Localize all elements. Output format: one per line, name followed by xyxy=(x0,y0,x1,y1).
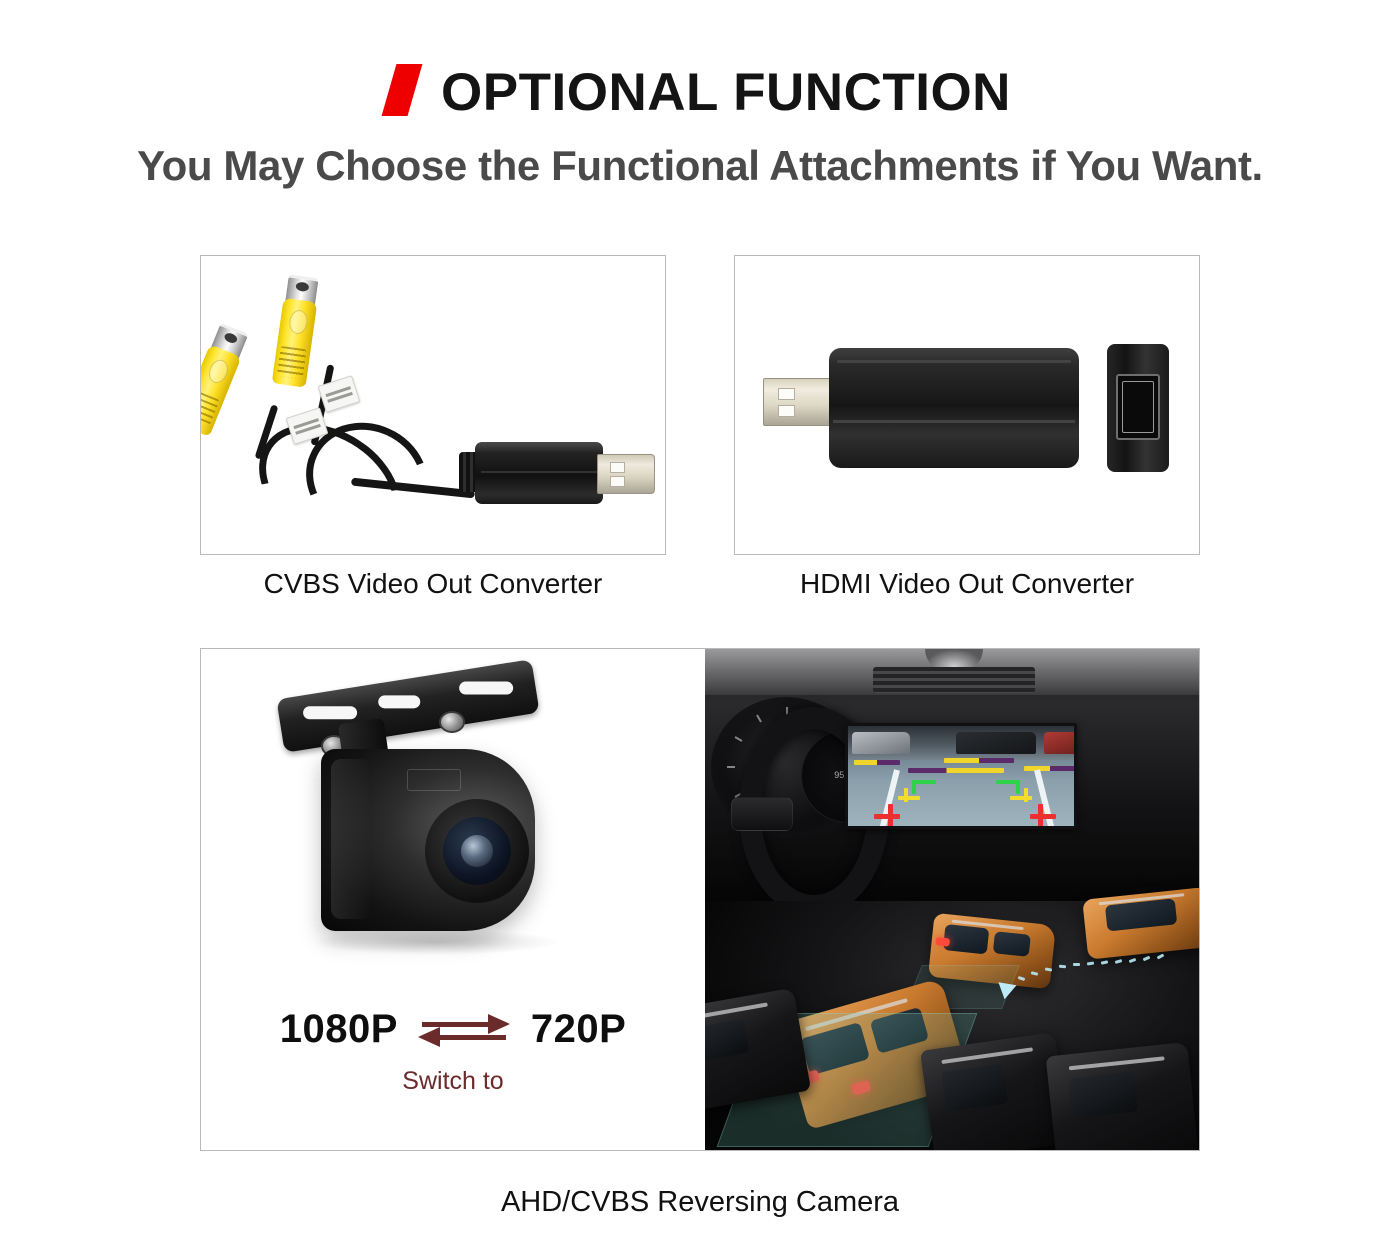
wheel-stop-left xyxy=(854,760,900,765)
car-dashboard: 951 km xyxy=(705,649,1200,901)
rca-yellow-body-upper xyxy=(272,298,318,388)
usb-a-plug-cvbs xyxy=(597,454,655,494)
guideline-near-left-vert xyxy=(888,804,893,826)
suv-entering-rear xyxy=(1082,886,1200,959)
rca-grip-oval-lower xyxy=(206,357,232,386)
product-panel-hdmi-converter xyxy=(734,255,1200,555)
arrow-head-right xyxy=(488,1014,510,1034)
infotainment-display-frame[interactable] xyxy=(845,723,1077,829)
black-car-window-1 xyxy=(705,1019,750,1061)
guideline-mid-right-vert xyxy=(1024,788,1028,802)
guideline-far-left-vert xyxy=(912,780,916,794)
camera-brand-badge-icon xyxy=(407,769,461,791)
suv-rear-window xyxy=(943,924,989,954)
page-subtitle: You May Choose the Functional Attachment… xyxy=(0,142,1400,190)
parked-car-center xyxy=(956,732,1036,754)
black-car-rail-1 xyxy=(705,1002,768,1018)
product-panel-cvbs-converter xyxy=(200,255,666,555)
usb-contact-upper xyxy=(610,462,625,473)
reversing-camera-feed xyxy=(848,726,1074,826)
bracket-slot-center xyxy=(378,695,420,708)
dashboard-air-vent xyxy=(873,667,1035,693)
guideline-near-left xyxy=(874,814,900,819)
bracket-slot-right xyxy=(459,682,513,695)
trajectory-dot xyxy=(1129,958,1137,963)
trajectory-dot xyxy=(1073,963,1080,966)
wheel-stop-right xyxy=(1024,766,1074,771)
rca-yellow-body-lower xyxy=(200,344,242,436)
trajectory-dot xyxy=(1087,962,1094,966)
camera-drop-shadow xyxy=(311,929,561,955)
trajectory-dot xyxy=(1157,954,1165,960)
usb-a-plug-hdmi xyxy=(763,378,835,426)
wheel-stop-center-2 xyxy=(908,768,1004,773)
gauge-tick xyxy=(735,736,743,742)
bracket-screw-right xyxy=(439,711,465,733)
gauge-tick xyxy=(756,715,762,723)
guideline-mid-left xyxy=(898,796,920,800)
black-car-window-3 xyxy=(1068,1072,1138,1119)
bracket-slot-left xyxy=(303,706,357,719)
resolution-from-label: 1080P xyxy=(280,1007,398,1052)
hdmi-end-view xyxy=(1107,344,1169,472)
trajectory-dot xyxy=(1115,959,1123,964)
trajectory-dot xyxy=(1059,965,1066,969)
cvbs-converter-illustration xyxy=(201,256,665,554)
black-car-rail-3 xyxy=(1069,1056,1165,1070)
usb-contact-lower-hdmi xyxy=(778,405,795,417)
guideline-near-right-vert xyxy=(1038,804,1043,826)
trajectory-dot xyxy=(1101,960,1108,964)
rca-center-hole-lower xyxy=(223,331,238,344)
parked-car-right xyxy=(1044,732,1074,754)
camera-lens-glass xyxy=(443,817,511,885)
resolution-to-label: 720P xyxy=(531,1007,626,1052)
camera-body xyxy=(321,749,535,931)
camera-lens-aperture xyxy=(461,835,493,867)
rca-ridges-lower xyxy=(200,390,220,428)
rca-grip-oval-upper xyxy=(288,309,309,335)
guideline-near-right xyxy=(1030,814,1056,819)
caption-reversing-camera: AHD/CVBS Reversing Camera xyxy=(200,1186,1200,1219)
black-car-rail-2 xyxy=(941,1047,1033,1064)
wheel-stop-center xyxy=(944,758,1014,763)
usb-contact-upper-hdmi xyxy=(778,388,795,400)
hdmi-port-icon xyxy=(1116,374,1160,440)
parking-assist-scene: 951 km xyxy=(705,649,1200,1151)
suv-taillight-left xyxy=(935,937,950,946)
arrow-head-left xyxy=(418,1027,440,1047)
arrow-line-bottom xyxy=(434,1035,506,1040)
steering-wheel-controls xyxy=(731,797,793,831)
overhead-parking-lot xyxy=(705,901,1200,1151)
rca-center-hole-upper xyxy=(295,281,309,292)
guideline-mid-right xyxy=(1010,796,1032,800)
bidirectional-arrow-icon xyxy=(416,1010,512,1050)
parked-black-car-far-left xyxy=(705,988,811,1111)
guideline-far-left xyxy=(914,780,936,784)
caption-hdmi-converter: HDMI Video Out Converter xyxy=(734,568,1200,600)
camera-mount-bracket xyxy=(276,659,539,753)
page-title-row: OPTIONAL FUNCTION xyxy=(0,62,1400,123)
camera-lens-housing xyxy=(425,799,529,903)
parked-black-car-center xyxy=(920,1032,1070,1151)
rca-ridges-upper xyxy=(277,346,307,379)
switch-to-label: Switch to xyxy=(201,1067,705,1096)
resolution-switch-row: 1080P 720P xyxy=(201,1007,705,1052)
reversing-camera-illustration: 1080P 720P Switch to xyxy=(201,649,705,1150)
gauge-tick xyxy=(727,766,735,768)
suv-side-window xyxy=(993,931,1031,957)
black-car-window-2 xyxy=(941,1064,1008,1112)
product-panel-reversing-camera: 1080P 720P Switch to xyxy=(200,648,1200,1151)
parked-black-car-right xyxy=(1046,1042,1199,1151)
red-slash-accent-icon xyxy=(382,64,423,116)
trajectory-dot xyxy=(1143,956,1151,962)
guideline-far-right-vert xyxy=(1016,780,1020,794)
page-title: OPTIONAL FUNCTION xyxy=(441,62,1011,123)
parked-car-left xyxy=(852,732,910,754)
guideline-far-right xyxy=(996,780,1018,784)
usb-dongle-body xyxy=(475,442,603,504)
hdmi-converter-illustration xyxy=(735,256,1199,554)
caption-cvbs-converter: CVBS Video Out Converter xyxy=(200,568,666,600)
usb-contact-lower xyxy=(610,476,625,487)
guideline-mid-left-vert xyxy=(904,788,908,802)
hdmi-dongle-body xyxy=(829,348,1079,468)
